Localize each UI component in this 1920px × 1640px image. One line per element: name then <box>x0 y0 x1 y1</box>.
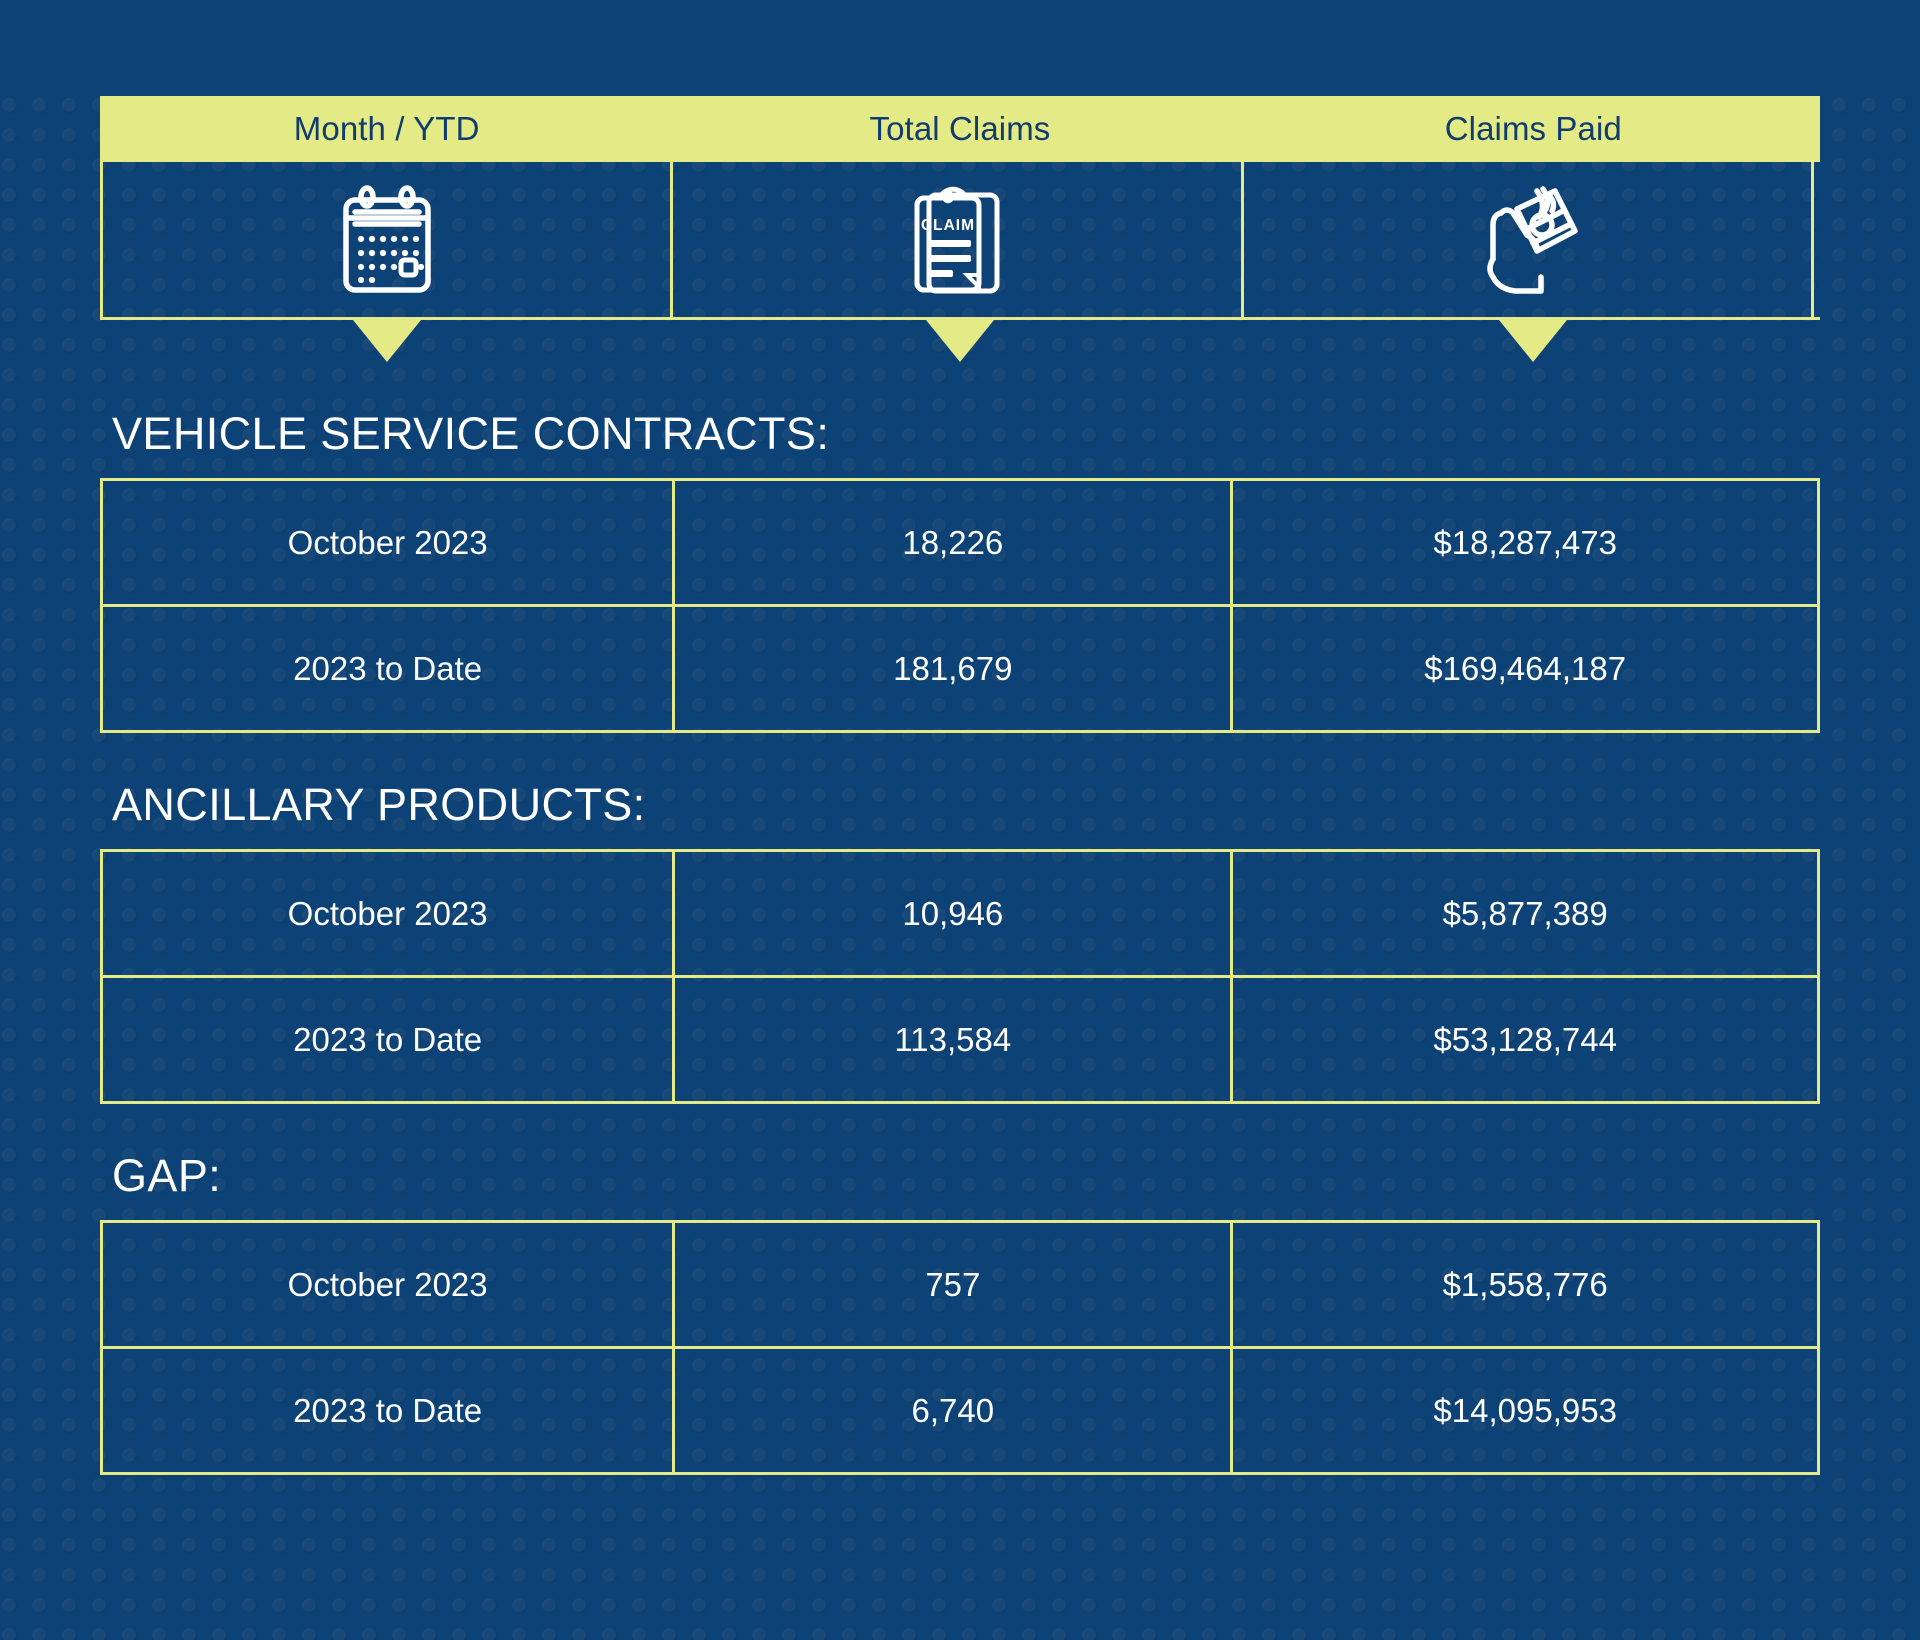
table-header-block: Month / YTD Total Claims Claims Paid <box>100 96 1820 362</box>
hand-holding-money-icon <box>1471 185 1583 295</box>
header-icon-cell-month <box>100 162 673 317</box>
header-arrow-row <box>100 320 1820 362</box>
triangle-down-icon <box>926 320 994 362</box>
cell-claims-paid: $1,558,776 <box>1232 1222 1819 1348</box>
table-row: October 2023 18,226 $18,287,473 <box>102 480 1819 606</box>
data-table: October 2023 757 $1,558,776 2023 to Date… <box>100 1220 1820 1475</box>
cell-total-claims: 181,679 <box>674 606 1232 732</box>
cell-total-claims: 113,584 <box>674 977 1232 1103</box>
header-label-row: Month / YTD Total Claims Claims Paid <box>100 96 1820 162</box>
cell-period: 2023 to Date <box>102 977 674 1103</box>
cell-period: 2023 to Date <box>102 606 674 732</box>
header-column-month-ytd: Month / YTD <box>100 110 673 148</box>
table-row: 2023 to Date 6,740 $14,095,953 <box>102 1348 1819 1474</box>
cell-total-claims: 6,740 <box>674 1348 1232 1474</box>
header-icon-row: CLAIM <box>100 162 1820 320</box>
arrow-cell-month <box>100 320 673 362</box>
header-icon-cell-total-claims: CLAIM <box>670 162 1243 317</box>
cell-claims-paid: $169,464,187 <box>1232 606 1819 732</box>
claims-summary-page: Month / YTD Total Claims Claims Paid <box>0 96 1920 1640</box>
data-table: October 2023 10,946 $5,877,389 2023 to D… <box>100 849 1820 1104</box>
section-ancillary-products: ANCILLARY PRODUCTS: October 2023 10,946 … <box>100 779 1820 1104</box>
table-row: October 2023 10,946 $5,877,389 <box>102 851 1819 977</box>
header-column-total-claims: Total Claims <box>673 110 1246 148</box>
cell-period: October 2023 <box>102 1222 674 1348</box>
svg-text:CLAIM: CLAIM <box>921 217 975 234</box>
arrow-cell-claims-paid <box>1247 320 1820 362</box>
calendar-icon <box>333 184 441 296</box>
cell-claims-paid: $18,287,473 <box>1232 480 1819 606</box>
cell-period: October 2023 <box>102 851 674 977</box>
data-table: October 2023 18,226 $18,287,473 2023 to … <box>100 478 1820 733</box>
section-gap: GAP: October 2023 757 $1,558,776 2023 to… <box>100 1150 1820 1475</box>
cell-claims-paid: $53,128,744 <box>1232 977 1819 1103</box>
table-row: 2023 to Date 113,584 $53,128,744 <box>102 977 1819 1103</box>
cell-period: 2023 to Date <box>102 1348 674 1474</box>
section-title: GAP: <box>100 1150 1820 1202</box>
header-icon-cell-claims-paid <box>1241 162 1814 317</box>
header-column-claims-paid: Claims Paid <box>1247 110 1820 148</box>
arrow-cell-total-claims <box>673 320 1246 362</box>
claim-clipboard-icon: CLAIM <box>905 183 1009 297</box>
section-title: ANCILLARY PRODUCTS: <box>100 779 1820 831</box>
cell-total-claims: 757 <box>674 1222 1232 1348</box>
table-row: 2023 to Date 181,679 $169,464,187 <box>102 606 1819 732</box>
cell-claims-paid: $5,877,389 <box>1232 851 1819 977</box>
cell-total-claims: 18,226 <box>674 480 1232 606</box>
section-vehicle-service-contracts: VEHICLE SERVICE CONTRACTS: October 2023 … <box>100 408 1820 733</box>
triangle-down-icon <box>353 320 421 362</box>
cell-period: October 2023 <box>102 480 674 606</box>
table-row: October 2023 757 $1,558,776 <box>102 1222 1819 1348</box>
section-title: VEHICLE SERVICE CONTRACTS: <box>100 408 1820 460</box>
triangle-down-icon <box>1499 320 1567 362</box>
cell-total-claims: 10,946 <box>674 851 1232 977</box>
cell-claims-paid: $14,095,953 <box>1232 1348 1819 1474</box>
